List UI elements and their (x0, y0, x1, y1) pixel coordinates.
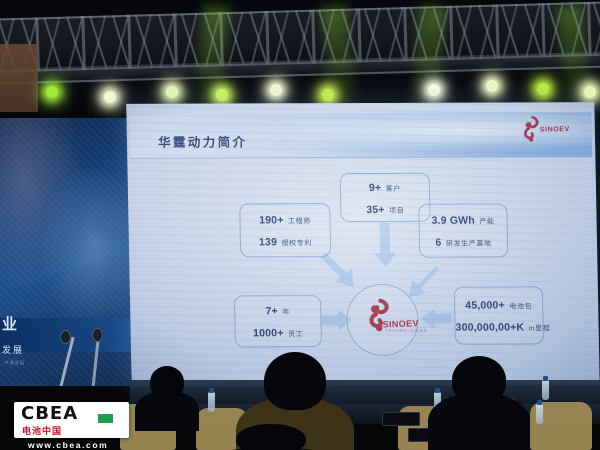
ceiling-area (0, 0, 600, 112)
stat-box-engineers-patents[interactable]: 190+ 工程师 139 授权专利 (239, 203, 331, 257)
photo-scene: 业 发展 产业论坛 华霆动力简介 (0, 0, 600, 450)
stat-value: 1000+ (253, 327, 284, 339)
stat-label: m里程 (529, 325, 551, 332)
stat-value: 9+ (369, 182, 382, 194)
cbea-chinese-name: 电池中国 (22, 424, 62, 437)
stat-line: 190+ 工程师 (240, 210, 329, 228)
stat-value: 3.9 GWh (431, 215, 475, 227)
water-bottle (542, 380, 549, 400)
stat-label: 工程师 (288, 218, 311, 225)
stat-line: 1000+ 员工 (235, 323, 320, 341)
stat-label: 员工 (288, 331, 303, 338)
sinoev-mark-icon (520, 115, 543, 143)
water-bottle (536, 404, 543, 424)
stat-line: 35+ 项目 (341, 199, 429, 217)
cbea-green-block-icon (98, 414, 113, 423)
conference-desk (130, 380, 600, 406)
stat-line: 7+ 年 (235, 301, 320, 319)
bottle-cap (543, 376, 548, 381)
stat-label: 电池包 (509, 303, 532, 310)
backdrop-text-large: 业 (2, 313, 19, 334)
stat-value: 45,000+ (465, 300, 505, 312)
stage-light (216, 89, 228, 101)
audience-head (452, 356, 506, 404)
stage-light (166, 86, 178, 98)
slide-title: 华霆动力简介 (158, 131, 248, 150)
stat-label: 年 (282, 309, 290, 316)
stat-value: 7+ (265, 305, 278, 317)
stat-label: 项目 (389, 207, 404, 214)
stat-label: 授权专利 (281, 240, 312, 247)
stage-light (486, 80, 498, 92)
sinoev-logo-header: SINOEV (520, 115, 583, 145)
audience-head (150, 366, 184, 398)
stat-box-packs-mileage[interactable]: 45,000+ 电池包 300,000,00+K m里程 (454, 286, 544, 344)
bottle-cap (537, 400, 542, 405)
stat-line: 6 研发生产基地 (420, 232, 507, 250)
cbea-watermark: CBEA 电池中国 www.cbea.com (14, 402, 129, 438)
stat-label: 研发生产基地 (446, 241, 492, 248)
audience-head (264, 352, 326, 410)
stat-line: 9+ 客户 (341, 177, 429, 195)
water-bottle (208, 392, 215, 412)
stat-line: 45,000+ 电池包 (455, 295, 542, 313)
stage-light (428, 84, 440, 96)
stat-label: 产能 (479, 219, 494, 226)
stat-value: 190+ (259, 214, 284, 226)
stage-light (270, 84, 282, 96)
wall-panel (0, 44, 38, 112)
stat-box-capacity-bases[interactable]: 3.9 GWh 产能 6 研发生产基地 (418, 204, 508, 258)
stat-box-customers-projects[interactable]: 9+ 客户 35+ 项目 (340, 173, 431, 222)
cbea-wordmark: CBEA (21, 405, 78, 423)
stat-line: 3.9 GWh 产能 (419, 211, 506, 229)
stat-line: 139 授权专利 (241, 232, 330, 250)
stat-label: 客户 (386, 185, 401, 192)
desk-nameplate (382, 412, 420, 426)
bottle-cap (209, 388, 214, 393)
stat-value: 6 (435, 237, 441, 249)
stat-line: 300,000,00+K m里程 (455, 317, 542, 335)
slide-header-band: 华霆动力简介 SINOEV (129, 112, 592, 159)
stat-value: 35+ (366, 203, 385, 215)
stage-light (46, 86, 58, 98)
stage-light (104, 91, 116, 103)
stage-light (584, 86, 596, 98)
hub-tagline: TECHNOLOGIES (386, 329, 428, 333)
bottle-cap (435, 388, 440, 393)
audience-head (236, 424, 306, 450)
sinoev-wordmark-header: SINOEV (540, 126, 570, 134)
cbea-url: www.cbea.com (28, 440, 108, 450)
stage-light (322, 89, 334, 101)
stage-light (537, 83, 549, 95)
stat-value: 139 (259, 236, 277, 248)
stat-value: 300,000,00+K (455, 321, 524, 333)
cbea-logo-card: CBEA 电池中国 (14, 402, 129, 438)
